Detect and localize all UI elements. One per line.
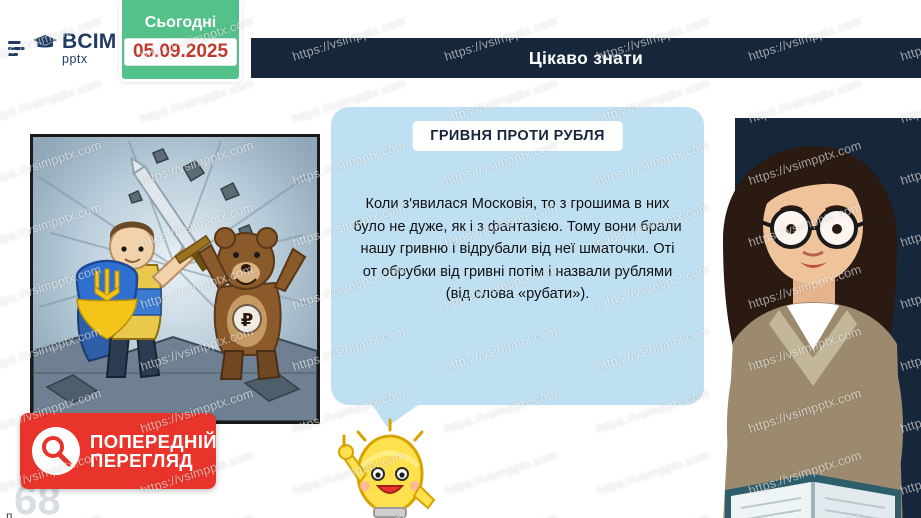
teacher-illustration: [661, 118, 921, 518]
slide-canvas: ₽ ГРИВНЯ ПРОТИ РУБЛЯ Коли з'явилася Моск…: [0, 0, 921, 518]
svg-text:₽: ₽: [241, 310, 254, 331]
watermark-text: https://vsimpptx.com: [595, 0, 711, 2]
preview-stamp-line2: ПЕРЕГЛЯД: [90, 451, 217, 470]
watermark-text: https://vsimpptx.com: [747, 0, 863, 2]
fact-speech-bubble: ГРИВНЯ ПРОТИ РУБЛЯ Коли з'явилася Москов…: [331, 107, 704, 405]
brand-subtitle: pptx: [62, 53, 116, 66]
lightbulb-mascot-icon: [338, 416, 442, 518]
bottom-left-text-line1: п: [6, 508, 126, 518]
brand-logo[interactable]: BCIM pptx: [8, 26, 116, 70]
date-badge-value: 05.09.2025: [124, 38, 237, 66]
magnifier-icon: [32, 427, 80, 475]
bottom-left-text: п с: [6, 508, 126, 518]
page-title: Цікаво знати: [529, 48, 643, 69]
watermark-text: https://vsimpptx.com: [0, 0, 103, 2]
comic-illustration: ₽: [30, 134, 320, 424]
watermark-text: https://vsimpptx.com: [899, 0, 921, 2]
date-badge-label: Сьогодні: [145, 14, 216, 32]
preview-stamp-line1: ПОПЕРЕДНІЙ: [90, 432, 217, 451]
section-header-bar: Цікаво знати: [251, 38, 921, 78]
brand-name: BCIM: [62, 31, 116, 52]
bubble-body-text: Коли з'явилася Московія, то з грошима в …: [353, 193, 682, 306]
date-badge: Сьогодні 05.09.2025: [119, 0, 242, 82]
graduation-cap-icon: [32, 34, 58, 49]
logo-dashes-icon: [8, 41, 25, 56]
watermark-text: https://vsimpptx.com: [291, 0, 407, 2]
preview-stamp: ПОПЕРЕДНІЙ ПЕРЕГЛЯД: [20, 413, 216, 489]
bubble-title: ГРИВНЯ ПРОТИ РУБЛЯ: [412, 121, 623, 151]
watermark-text: https://vsimpptx.com: [443, 0, 559, 2]
